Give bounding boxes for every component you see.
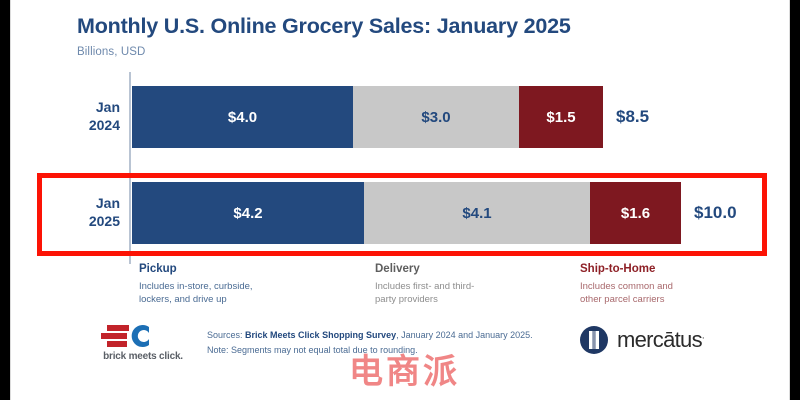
legend-description: Includes in-store, curbside, lockers, an… [139,280,253,308]
bar-segment-ship-to-home-2024[interactable]: $1.5 [519,86,603,148]
legend-item-pickup: Pickup Includes in-store, curbside, lock… [139,262,253,307]
legend-description: Includes first- and third- party provide… [375,280,474,308]
bar-value-label: $3.0 [421,109,450,126]
sources-survey-name: Brick Meets Click Shopping Survey [245,330,396,340]
brick-meets-click-logo: brick meets click. [83,322,203,362]
logo-bar-icon [107,341,127,347]
legend-item-ship-to-home: Ship-to-Home Includes common and other p… [580,262,673,307]
sources-prefix: Sources: [207,330,245,340]
bar-total-2024: $8.5 [616,107,649,127]
bar-value-label: $4.0 [228,109,257,126]
legend-desc-line2: other parcel carriers [580,294,664,305]
logo-c-swoosh-icon [125,323,151,349]
chart-slide: Monthly U.S. Online Grocery Sales: Janua… [10,0,790,400]
bar-segment-delivery-2024[interactable]: $3.0 [353,86,519,148]
legend-description: Includes common and other parcel carrier… [580,280,673,308]
legend-title: Ship-to-Home [580,262,673,278]
sources-suffix: , January 2024 and January 2025. [396,330,533,340]
legend-title: Pickup [139,262,253,278]
row-label-line1: Jan [96,99,120,115]
legend-desc-line1: Includes common and [580,281,673,292]
bar-value-label: $1.5 [546,109,575,126]
legend-desc-line2: party providers [375,294,438,305]
legend-desc-line1: Includes first- and third- [375,281,474,292]
legend-title: Delivery [375,262,474,278]
footer-sources: Sources: Brick Meets Click Shopping Surv… [207,328,533,358]
brick-meets-click-wordmark: brick meets click. [83,351,203,362]
mercatus-mark-icon [579,325,609,355]
legend-desc-line1: Includes in-store, curbside, [139,281,253,292]
brick-meets-click-mark-icon [99,322,169,348]
mercatus-logo: mercātus. [579,325,704,355]
mercatus-wordmark-text: mercātus [617,327,702,352]
highlight-box-jan-2025 [37,173,767,256]
table-row: Jan 2024 $4.0 $3.0 $1.5 $8.5 [132,86,603,148]
logo-bar-icon [101,333,127,339]
bar-segment-pickup-2024[interactable]: $4.0 [132,86,353,148]
row-label-line2: 2024 [89,117,120,133]
legend-desc-line2: lockers, and drive up [139,294,227,305]
row-label-jan-2024: Jan 2024 [89,99,120,135]
sources-note: Note: Segments may not equal total due t… [207,343,533,358]
sources-line: Sources: Brick Meets Click Shopping Surv… [207,328,533,343]
mercatus-wordmark: mercātus. [617,327,704,353]
legend-item-delivery: Delivery Includes first- and third- part… [375,262,474,307]
